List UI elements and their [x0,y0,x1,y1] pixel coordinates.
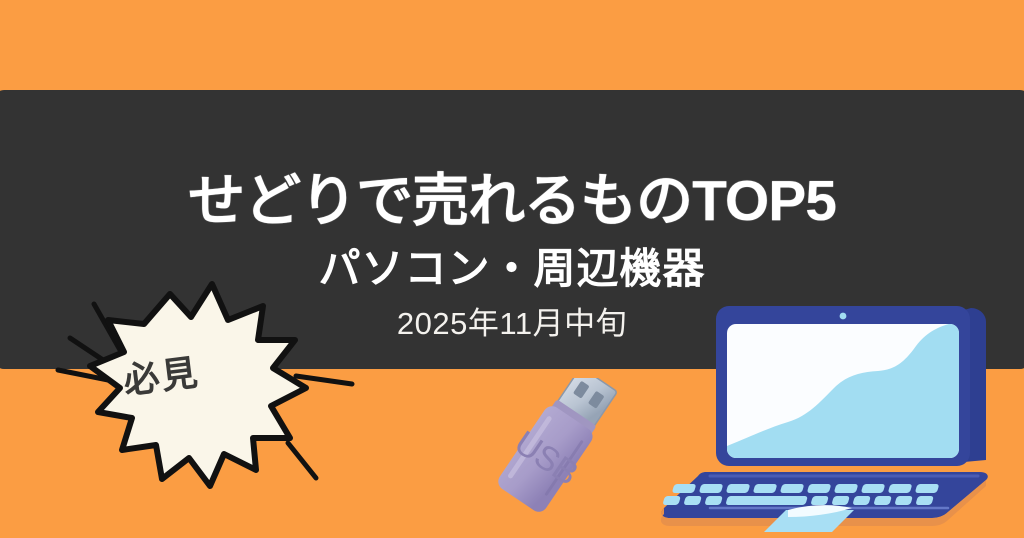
webcam-icon [840,313,847,320]
usb-flash-drive-illustration: USB [484,378,654,538]
laptop-illustration [648,276,1024,538]
sedori-top5-banner: せどりで売れるものTOP5 パソコン・周辺機器 2025年11月中旬 必見 [0,0,1024,538]
